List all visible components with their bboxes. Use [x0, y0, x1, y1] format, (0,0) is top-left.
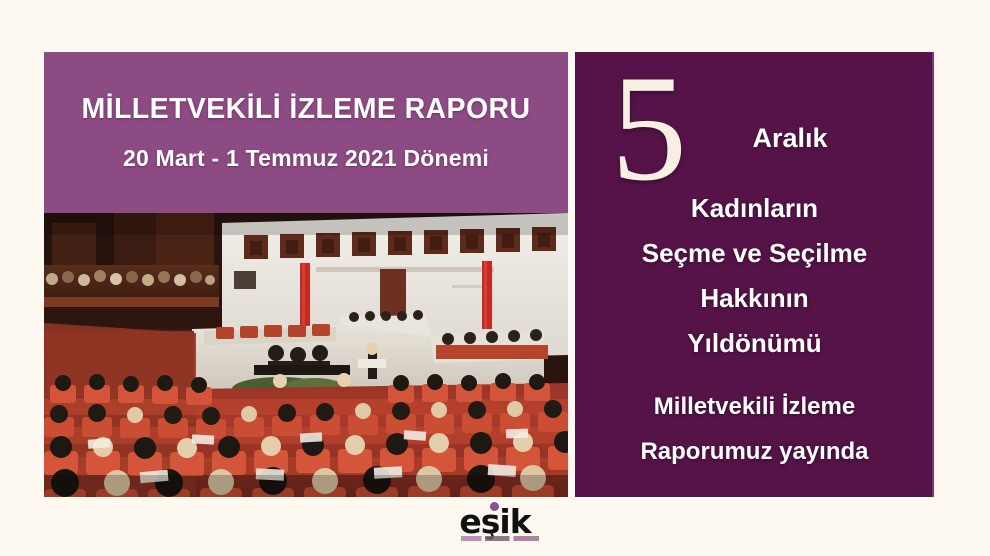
parliament-photo-illustration: [44, 213, 568, 497]
anniversary-line-4: Yıldönümü: [575, 328, 934, 359]
left-panel: MİLLETVEKİLİ İZLEME RAPORU 20 Mart - 1 T…: [44, 52, 568, 497]
poster-canvas: MİLLETVEKİLİ İZLEME RAPORU 20 Mart - 1 T…: [0, 0, 990, 556]
brand-logo: eşik: [0, 505, 990, 549]
anniversary-line-2: Seçme ve Seçilme: [575, 238, 934, 269]
month-label: Aralık: [675, 123, 905, 154]
logo-inner: eşik: [459, 505, 530, 539]
parliament-photo: [44, 213, 568, 497]
page-title: MİLLETVEKİLİ İZLEME RAPORU: [44, 93, 568, 126]
announcement-line-1: Milletvekili İzleme: [575, 393, 934, 421]
announcement-line-2: Raporumuz yayında: [575, 438, 934, 466]
report-period-subtitle: 20 Mart - 1 Temmuz 2021 Dönemi: [44, 145, 568, 172]
logo-tagline: [461, 536, 539, 541]
right-panel: 5 Aralık Kadınların Seçme ve Seçilme Hak…: [575, 52, 934, 497]
left-heading-block: MİLLETVEKİLİ İZLEME RAPORU 20 Mart - 1 T…: [44, 52, 568, 213]
anniversary-line-1: Kadınların: [575, 193, 934, 224]
anniversary-line-3: Hakkının: [575, 283, 934, 314]
